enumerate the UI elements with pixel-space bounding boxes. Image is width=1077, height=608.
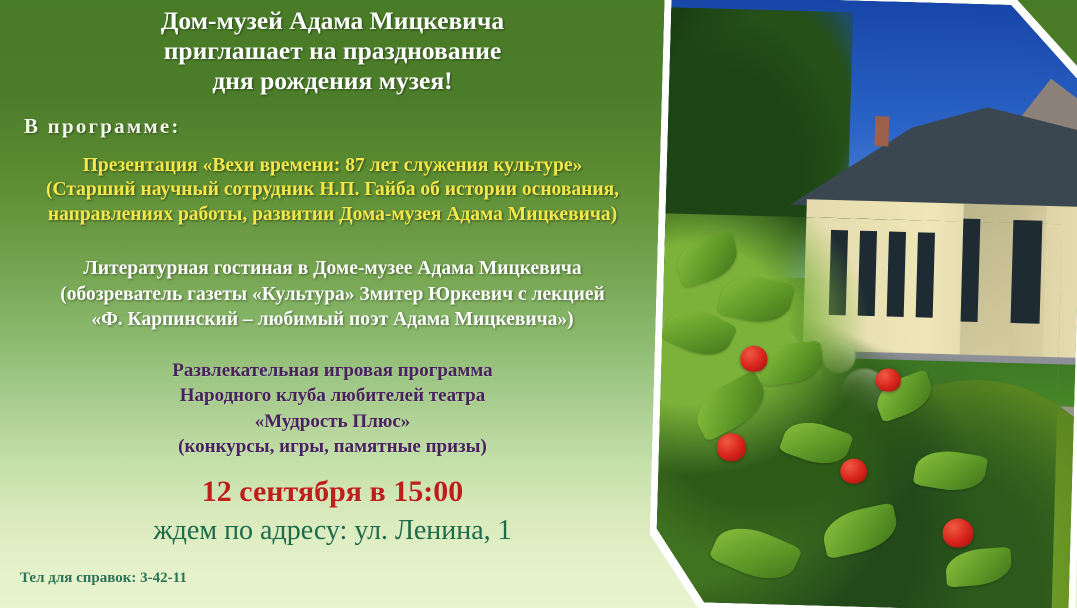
program-item-entertainment-line-2: Народного клуба любителей театра [0,383,665,408]
title-line-1: Дом-музей Адама Мицкевича [0,6,665,36]
contact-phone: Тел для справок: 3-42-11 [20,568,187,588]
poster-photo [647,0,1077,608]
title-line-2: приглашает на празднование [0,36,665,66]
photo-rose-hip [717,433,747,461]
event-address: ждем по адресу: ул. Ленина, 1 [0,513,665,548]
program-item-presentation-line-2: (Старший научный сотрудник Н.П. Гайба об… [0,178,665,202]
program-item-entertainment-line-3: «Мудрость Плюс» [0,409,665,434]
photo-chimney [874,116,889,147]
program-item-presentation-line-1: Презентация «Вехи времени: 87 лет служен… [0,154,665,178]
poster-text-column: Дом-музей Адама Мицкевича приглашает на … [0,0,665,608]
poster-title: Дом-музей Адама Мицкевича приглашает на … [0,6,665,96]
program-item-presentation: Презентация «Вехи времени: 87 лет служен… [0,154,665,227]
program-item-literary-salon-line-3: «Ф. Карпинский – любимый поэт Адама Мицк… [0,307,665,333]
event-date: 12 сентября в 15:00 [0,474,665,510]
photo-rose-hip [876,368,901,392]
program-item-literary-salon: Литературная гостиная в Доме-музее Адама… [0,256,665,333]
program-item-entertainment-line-1: Развлекательная игровая программа [0,358,665,383]
program-item-presentation-line-3: направлениях работы, развитии Дома-музея… [0,203,665,227]
title-line-3: дня рождения музея! [0,66,665,96]
program-item-entertainment-line-4: (конкурсы, игры, памятные призы) [0,434,665,459]
photo-image [655,0,1077,608]
photo-rose-hip [942,518,974,548]
poster: Дом-музей Адама Мицкевича приглашает на … [0,0,1077,608]
program-item-literary-salon-line-2: (обозреватель газеты «Культура» Змитер Ю… [0,282,665,308]
photo-rose-hip [840,458,868,484]
program-item-literary-salon-line-1: Литературная гостиная в Доме-музее Адама… [0,256,665,282]
photo-rose-hip [740,346,768,372]
program-item-entertainment: Развлекательная игровая программа Народн… [0,358,665,459]
program-label: В программе: [24,113,181,139]
